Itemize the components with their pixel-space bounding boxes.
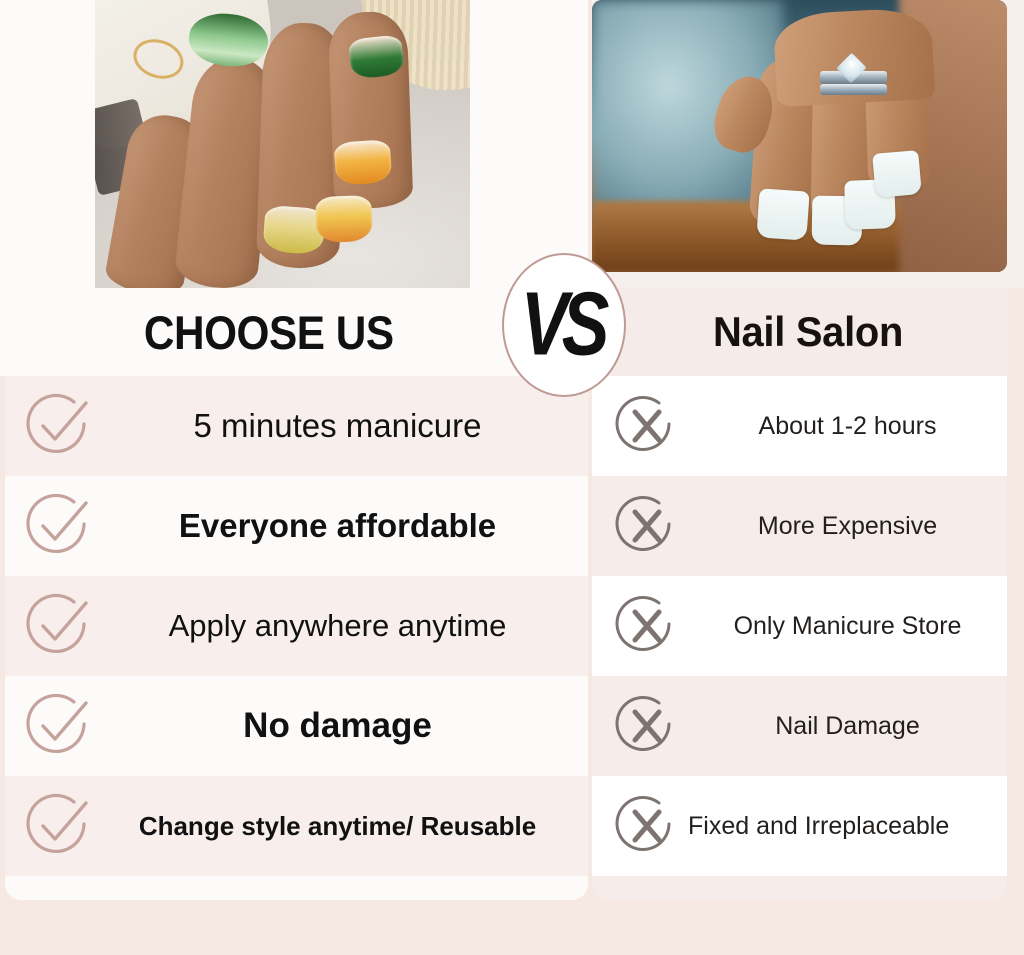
nail-salon-photo [592,0,1007,272]
right-photo-panel [592,0,1024,288]
check-circle-icon [5,689,113,763]
x-circle-icon [592,394,702,458]
vs-badge: VS [502,253,626,397]
vs-label: VS [521,280,607,370]
list-item: 5 minutes manicure [5,376,588,476]
list-item: No damage [5,676,588,776]
choose-us-list: 5 minutes manicure Everyone affordable A… [5,376,588,900]
list-item-label: 5 minutes manicure [113,407,588,445]
list-item: More Expensive [592,476,1007,576]
list-item-label: Fixed and Irreplaceable [688,812,1007,841]
check-circle-icon [5,589,113,663]
choose-us-header: CHOOSE US [0,288,588,376]
left-photo-panel [0,0,588,288]
choose-us-title: CHOOSE US [144,305,394,360]
list-item: Only Manicure Store [592,576,1007,676]
list-item-label: Change style anytime/ Reusable [113,811,588,842]
comparison-lists: 5 minutes manicure Everyone affordable A… [0,376,1024,904]
choose-us-photo [95,0,470,288]
list-item-label: No damage [113,706,588,746]
nail-salon-title: Nail Salon [713,308,903,356]
nail-salon-photo-scene [592,0,1007,272]
nail-salon-list: About 1-2 hours More Expensive Only Mani… [592,376,1007,900]
list-footer-strip [592,876,1007,900]
choose-us-photo-scene [95,0,470,288]
list-item-label: Everyone affordable [113,507,588,545]
x-circle-icon [592,794,702,858]
list-item-label: More Expensive [702,512,1007,541]
list-item: About 1-2 hours [592,376,1007,476]
list-item: Change style anytime/ Reusable [5,776,588,876]
check-circle-icon [5,789,113,863]
nail-salon-header: Nail Salon [592,288,1007,376]
list-item: Everyone affordable [5,476,588,576]
list-item: Nail Damage [592,676,1007,776]
photo-band [0,0,1024,288]
list-item-label: Apply anywhere anytime [113,608,588,644]
list-item-label: About 1-2 hours [702,412,1007,441]
list-item: Apply anywhere anytime [5,576,588,676]
list-item-label: Nail Damage [702,712,1007,741]
x-circle-icon [592,694,702,758]
check-circle-icon [5,489,113,563]
list-footer-strip [5,876,588,900]
x-circle-icon [592,494,702,558]
list-item-label: Only Manicure Store [702,612,1007,641]
list-item: Fixed and Irreplaceable [592,776,1007,876]
check-circle-icon [5,389,113,463]
x-circle-icon [592,594,702,658]
